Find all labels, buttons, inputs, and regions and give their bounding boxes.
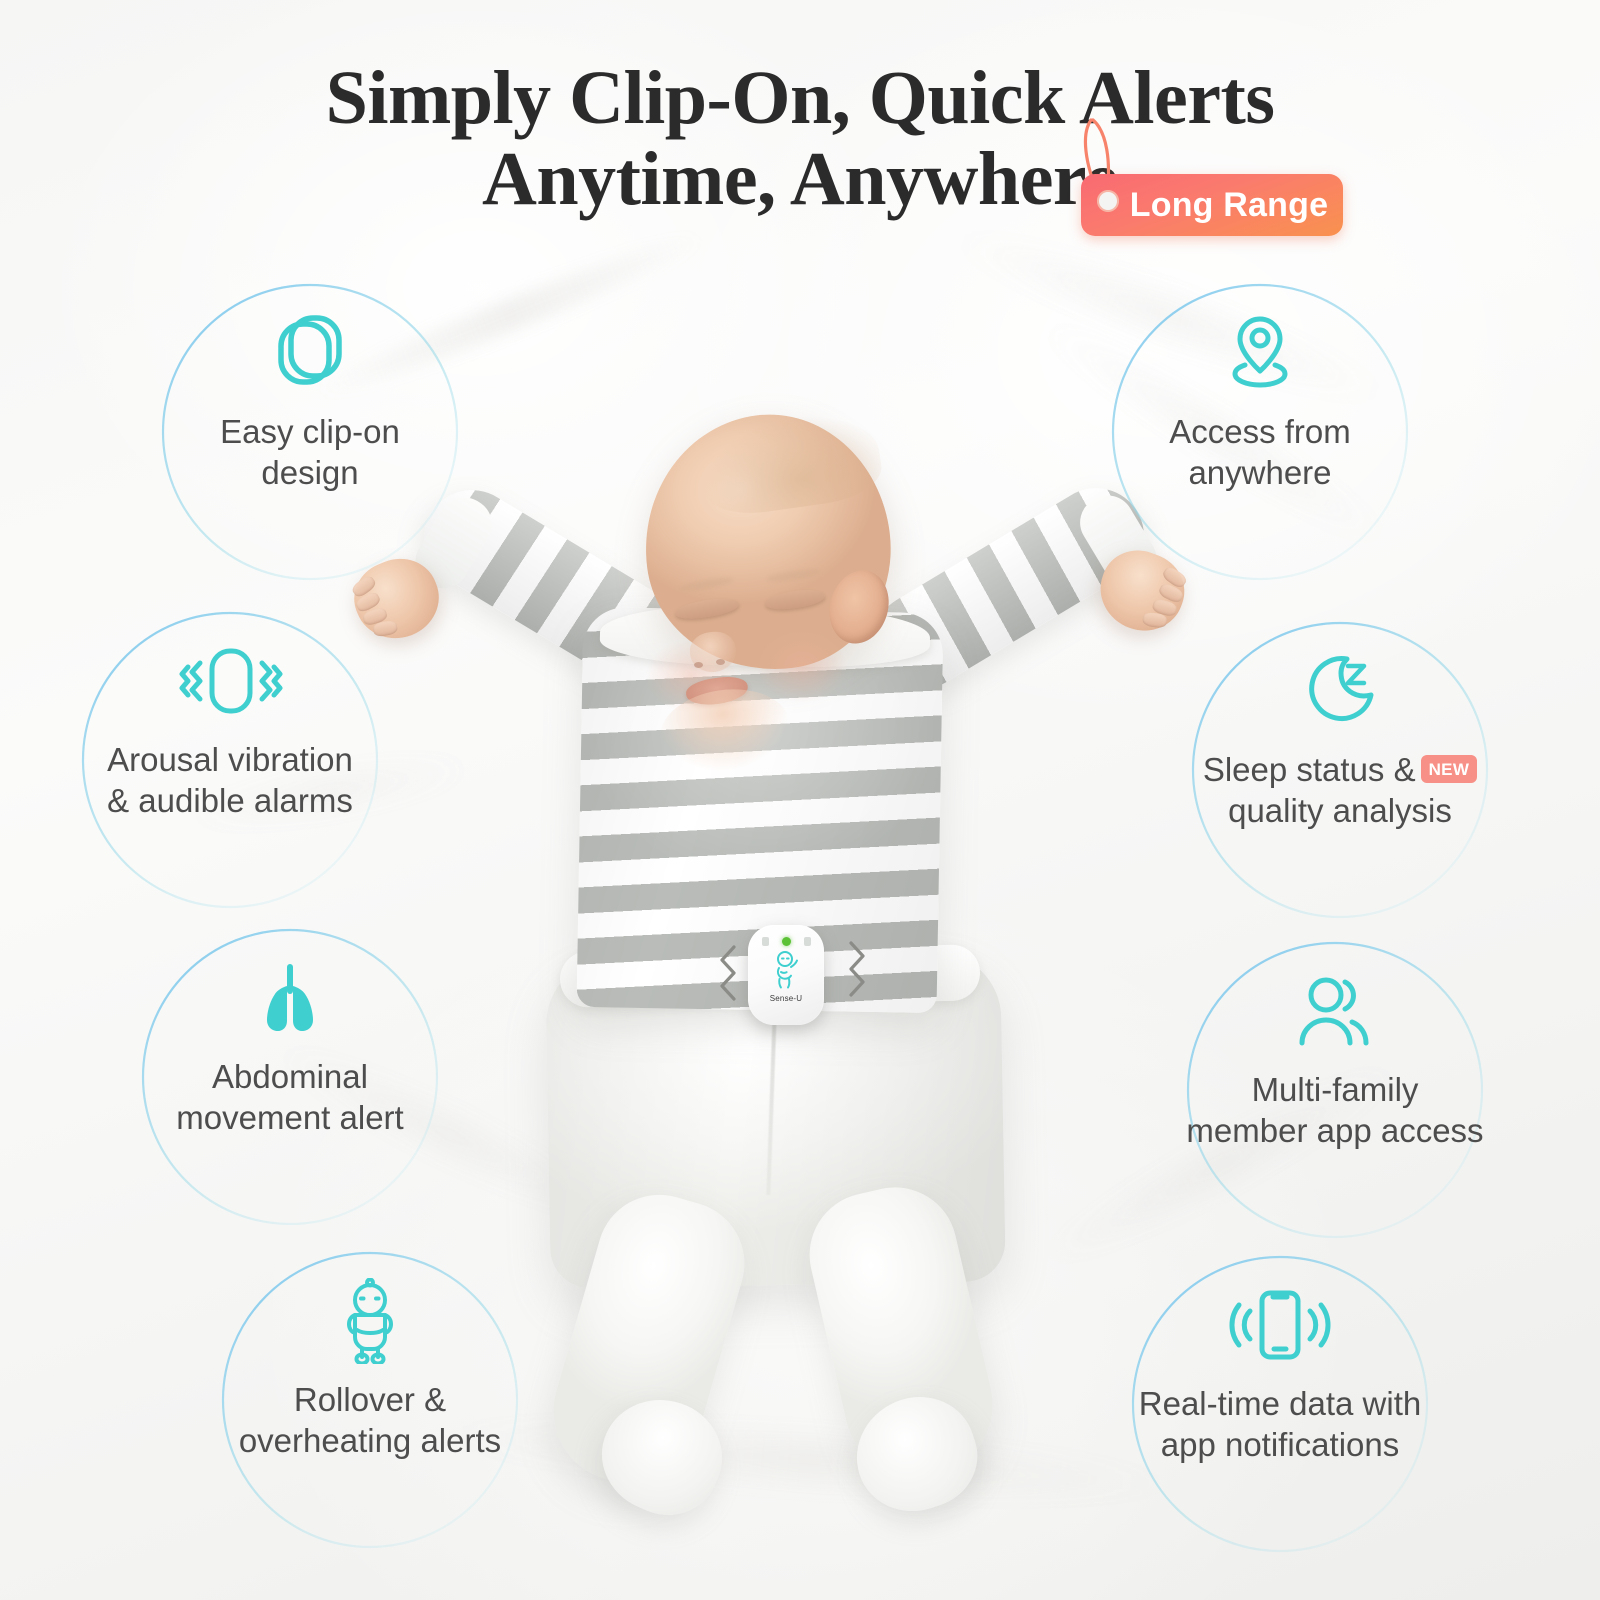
people-icon	[1292, 968, 1378, 1054]
feature-label: Abdominal movement alert	[176, 1057, 403, 1139]
status-led	[782, 937, 791, 946]
baby-nostril	[716, 659, 725, 665]
phone-vibrate-icon	[1217, 1282, 1343, 1368]
long-range-tag: Long Range	[1063, 108, 1343, 248]
feature-label: Access from anywhere	[1169, 412, 1351, 494]
feature-label-line-1: Sleep status &	[1203, 751, 1416, 788]
feature-sleep-status[interactable]: Sleep status &NEWquality analysis	[1170, 648, 1510, 832]
feature-arousal-vibration[interactable]: Arousal vibration & audible alarms	[50, 638, 410, 822]
vibration-mark-left	[714, 944, 740, 1006]
page-headline: Simply Clip-On, Quick Alerts Anytime, An…	[0, 58, 1600, 219]
feature-access-anywhere[interactable]: Access from anywhere	[1110, 310, 1410, 494]
feature-label: Easy clip-on design	[220, 412, 400, 494]
feature-easy-clip-on[interactable]: Easy clip-on design	[160, 310, 460, 494]
feature-label: Rollover & overheating alerts	[239, 1380, 501, 1462]
signal-led	[804, 937, 811, 946]
infographic-page: Sense-U Simply Clip-On, Quick Alerts Any…	[0, 0, 1600, 1600]
moon-z-icon	[1298, 648, 1382, 734]
vibration-mark-right	[845, 940, 871, 1002]
baby-nostril	[694, 662, 703, 668]
feature-rollover-overheating[interactable]: Rollover & overheating alerts	[200, 1278, 540, 1462]
tag-hole	[1097, 190, 1119, 212]
feature-abdominal-movement[interactable]: Abdominal movement alert	[120, 955, 460, 1139]
sense-u-device[interactable]: Sense-U	[748, 925, 824, 1025]
feature-label: Multi-family member app access	[1186, 1070, 1483, 1152]
vibration-icon	[170, 638, 290, 724]
headline-line-1: Simply Clip-On, Quick Alerts	[0, 58, 1600, 139]
tag-label: Long Range	[1130, 186, 1328, 225]
feature-multi-family[interactable]: Multi-family member app access	[1150, 968, 1520, 1152]
device-indicator-lights	[762, 937, 811, 946]
tag-pill: Long Range	[1081, 174, 1343, 236]
lungs-icon	[247, 955, 333, 1041]
new-badge: NEW	[1421, 755, 1478, 783]
feature-label: Arousal vibration & audible alarms	[107, 740, 353, 822]
location-pin-icon	[1223, 310, 1297, 396]
feature-label: Real-time data with app notifications	[1139, 1384, 1421, 1466]
sense-u-baby-logo-icon	[768, 950, 804, 992]
baby-cheek	[757, 630, 847, 702]
baby-icon	[339, 1278, 401, 1364]
clip-icon	[271, 310, 349, 396]
headline-line-2: Anytime, Anywhere	[482, 139, 1118, 220]
feature-real-time-data[interactable]: Real-time data with app notifications	[1080, 1282, 1480, 1466]
device-brand-label: Sense-U	[770, 994, 803, 1003]
battery-led	[762, 937, 769, 946]
feature-label-line-2: quality analysis	[1228, 792, 1452, 829]
feature-label: Sleep status &NEWquality analysis	[1203, 750, 1477, 832]
